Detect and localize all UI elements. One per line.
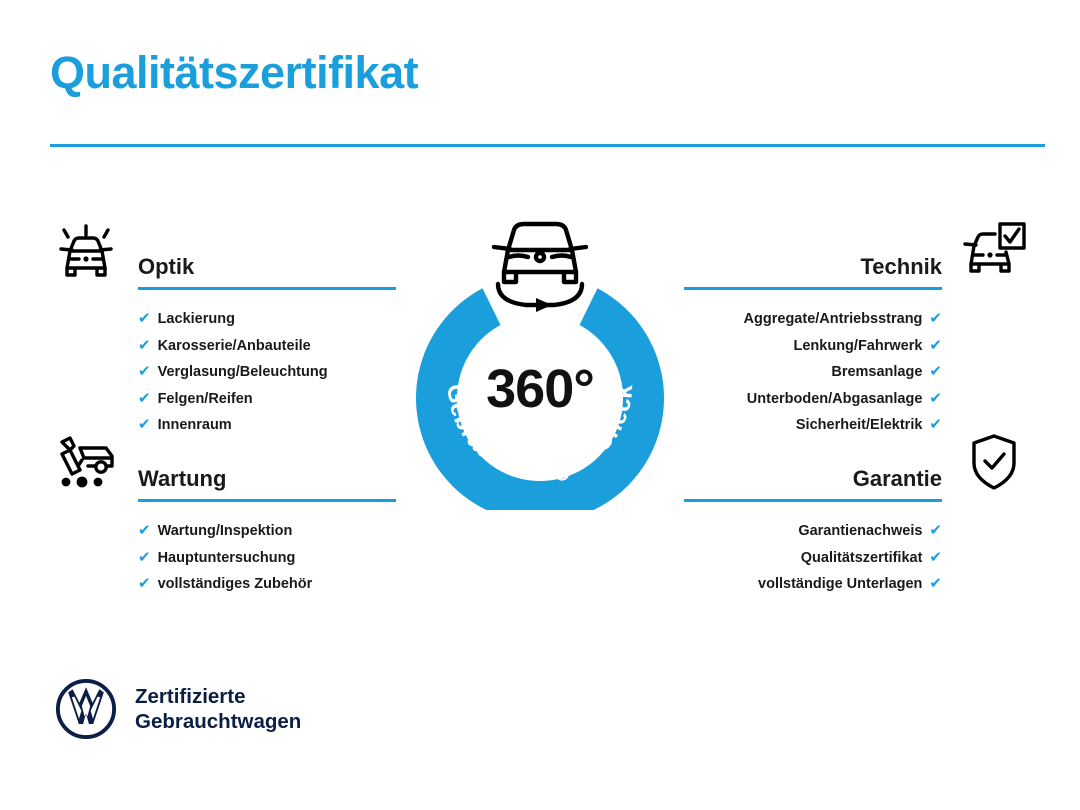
check-icon: ✔ bbox=[929, 571, 942, 597]
section-wartung-title: Wartung bbox=[138, 467, 396, 490]
list-item-label: vollständige Unterlagen bbox=[758, 572, 922, 598]
gebrauchtwagen-check-badge: Gebrauchtwagen-Check 360° bbox=[404, 210, 676, 510]
section-technik-heading-group: Technik bbox=[684, 255, 942, 290]
section-garantie: Garantie Garantienachweis✔ Qualitätszert… bbox=[680, 430, 1030, 598]
section-technik-header: Technik bbox=[680, 218, 1030, 290]
list-item: vollständige Unterlagen✔ bbox=[680, 571, 942, 598]
check-icon: ✔ bbox=[138, 359, 151, 385]
section-wartung-list: ✔Wartung/Inspektion ✔Hauptuntersuchung ✔… bbox=[138, 518, 400, 598]
header-divider bbox=[50, 144, 1045, 147]
list-item: ✔vollständiges Zubehör bbox=[138, 571, 400, 598]
check-icon: ✔ bbox=[929, 545, 942, 571]
section-optik-title: Optik bbox=[138, 255, 396, 278]
list-item-label: Wartung/Inspektion bbox=[158, 519, 293, 545]
footer-line-1: Zertifizierte bbox=[135, 684, 301, 709]
list-item: ✔Lackierung bbox=[138, 306, 400, 333]
section-technik: Technik Aggregate/Antriebsstrang✔ Lenkun… bbox=[680, 218, 1030, 439]
badge-center-label: 360° bbox=[404, 358, 676, 420]
list-item-label: vollständiges Zubehör bbox=[158, 572, 313, 598]
list-item-label: Lackierung bbox=[158, 307, 235, 333]
section-garantie-heading-group: Garantie bbox=[684, 467, 942, 502]
check-icon: ✔ bbox=[138, 545, 151, 571]
list-item: Garantienachweis✔ bbox=[680, 518, 942, 545]
section-wartung-header: Wartung bbox=[50, 430, 400, 502]
list-item-label: Felgen/Reifen bbox=[158, 387, 253, 413]
list-item: ✔Karosserie/Anbauteile bbox=[138, 333, 400, 360]
check-icon: ✔ bbox=[138, 306, 151, 332]
section-garantie-list: Garantienachweis✔ Qualitätszertifikat✔ v… bbox=[680, 518, 942, 598]
check-icon: ✔ bbox=[138, 333, 151, 359]
list-item-label: Aggregate/Antriebsstrang bbox=[744, 307, 923, 333]
section-garantie-header: Garantie bbox=[680, 430, 1030, 502]
footer-text: Zertifizierte Gebrauchtwagen bbox=[135, 684, 301, 734]
list-item-label: Verglasung/Beleuchtung bbox=[158, 360, 328, 386]
service-pencil-car-icon bbox=[50, 430, 122, 492]
list-item-label: Garantienachweis bbox=[798, 519, 922, 545]
list-item: ✔Verglasung/Beleuchtung bbox=[138, 359, 400, 386]
list-item-label: Bremsanlage bbox=[831, 360, 922, 386]
section-garantie-underline bbox=[684, 499, 942, 502]
section-technik-underline bbox=[684, 287, 942, 290]
list-item-label: Qualitätszertifikat bbox=[801, 546, 923, 572]
section-optik: Optik ✔Lackierung ✔Karosserie/Anbauteile… bbox=[50, 218, 400, 439]
car-front-checkbox-icon bbox=[958, 218, 1030, 280]
check-icon: ✔ bbox=[929, 306, 942, 332]
list-item: Lenkung/Fahrwerk✔ bbox=[680, 333, 942, 360]
section-optik-header: Optik bbox=[50, 218, 400, 290]
car-front-shine-icon bbox=[50, 218, 122, 280]
check-icon: ✔ bbox=[929, 386, 942, 412]
list-item-label: Hauptuntersuchung bbox=[158, 546, 296, 572]
footer-line-2: Gebrauchtwagen bbox=[135, 709, 301, 734]
check-icon: ✔ bbox=[929, 518, 942, 544]
section-wartung-underline bbox=[138, 499, 396, 502]
section-optik-underline bbox=[138, 287, 396, 290]
check-icon: ✔ bbox=[138, 386, 151, 412]
list-item: ✔Felgen/Reifen bbox=[138, 386, 400, 413]
section-wartung: Wartung ✔Wartung/Inspektion ✔Hauptunters… bbox=[50, 430, 400, 598]
list-item: ✔Wartung/Inspektion bbox=[138, 518, 400, 545]
list-item: Qualitätszertifikat✔ bbox=[680, 545, 942, 572]
list-item: Aggregate/Antriebsstrang✔ bbox=[680, 306, 942, 333]
check-icon: ✔ bbox=[138, 571, 151, 597]
list-item: Bremsanlage✔ bbox=[680, 359, 942, 386]
vw-logo bbox=[55, 678, 117, 740]
section-technik-title: Technik bbox=[684, 255, 942, 278]
list-item: Unterboden/Abgasanlage✔ bbox=[680, 386, 942, 413]
list-item-label: Unterboden/Abgasanlage bbox=[747, 387, 923, 413]
list-item-label: Karosserie/Anbauteile bbox=[158, 334, 311, 360]
check-icon: ✔ bbox=[929, 333, 942, 359]
section-wartung-heading-group: Wartung bbox=[138, 467, 396, 502]
check-icon: ✔ bbox=[138, 518, 151, 544]
page-title: Qualitätszertifikat bbox=[50, 48, 418, 98]
list-item-label: Lenkung/Fahrwerk bbox=[794, 334, 923, 360]
shield-check-icon bbox=[958, 430, 1030, 492]
car-front-rotate-icon bbox=[476, 210, 604, 314]
section-optik-heading-group: Optik bbox=[138, 255, 396, 290]
check-icon: ✔ bbox=[929, 359, 942, 385]
section-optik-list: ✔Lackierung ✔Karosserie/Anbauteile ✔Verg… bbox=[138, 306, 400, 439]
vw-certified-lockup: Zertifizierte Gebrauchtwagen bbox=[55, 678, 301, 740]
section-garantie-title: Garantie bbox=[684, 467, 942, 490]
section-technik-list: Aggregate/Antriebsstrang✔ Lenkung/Fahrwe… bbox=[680, 306, 942, 439]
list-item: ✔Hauptuntersuchung bbox=[138, 545, 400, 572]
